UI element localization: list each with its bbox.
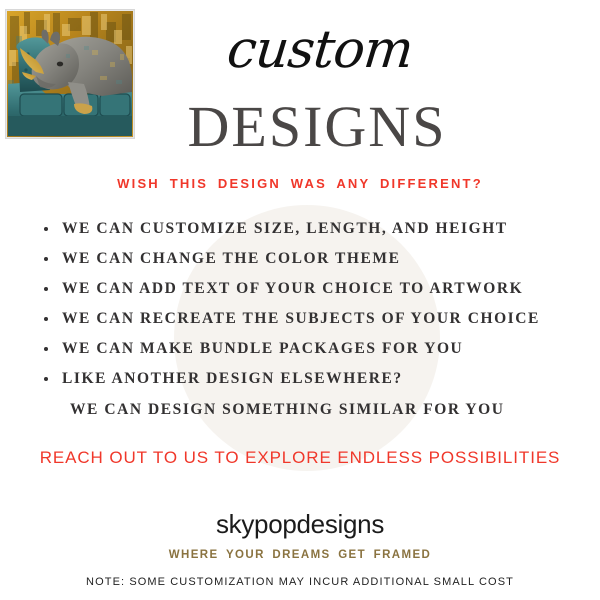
customization-feature-list: WE CAN CUSTOMIZE SIZE, LENGTH, AND HEIGH… [44, 214, 564, 426]
list-item: WE CAN ADD TEXT OF YOUR CHOICE TO ARTWOR… [44, 274, 564, 304]
brand-tagline: WHERE YOUR DREAMS GET FRAMED [0, 549, 600, 561]
rhino-canvas-art-icon [6, 10, 134, 138]
list-item-label: WE CAN MAKE BUNDLE PACKAGES FOR YOU [62, 340, 463, 357]
listing-info-graphic: custom DESIGNS WISH THIS DESIGN WAS ANY … [0, 0, 600, 600]
bullet-dot-icon [44, 377, 48, 381]
bullet-dot-icon [44, 227, 48, 231]
bullet-dot-icon [44, 347, 48, 351]
call-to-action-text: REACH OUT TO US TO EXPLORE ENDLESS POSSI… [0, 448, 600, 468]
list-item-label: WE CAN CUSTOMIZE SIZE, LENGTH, AND HEIGH… [62, 220, 508, 237]
product-artwork-thumbnail[interactable] [6, 10, 134, 138]
list-item-label: WE CAN RECREATE THE SUBJECTS OF YOUR CHO… [62, 310, 540, 327]
list-item: WE CAN CHANGE THE COLOR THEME [44, 244, 564, 274]
list-item: WE CAN CUSTOMIZE SIZE, LENGTH, AND HEIGH… [44, 214, 564, 244]
list-item: WE CAN MAKE BUNDLE PACKAGES FOR YOU [44, 334, 564, 364]
footnote-disclaimer: NOTE: SOME CUSTOMIZATION MAY INCUR ADDIT… [0, 576, 600, 588]
list-item-label: WE CAN ADD TEXT OF YOUR CHOICE TO ARTWOR… [62, 280, 523, 297]
list-item-label: LIKE ANOTHER DESIGN ELSEWHERE? [62, 370, 403, 387]
subheadline-question: WISH THIS DESIGN WAS ANY DIFFERENT? [0, 176, 600, 191]
list-item: LIKE ANOTHER DESIGN ELSEWHERE? [44, 364, 564, 394]
bullet-dot-icon [44, 257, 48, 261]
brand-name: skypopdesigns [0, 509, 600, 540]
list-item-label: WE CAN CHANGE THE COLOR THEME [62, 250, 401, 267]
bullet-dot-icon [44, 287, 48, 291]
list-item-continuation: WE CAN DESIGN SOMETHING SIMILAR FOR YOU [44, 394, 564, 426]
bullet-dot-icon [44, 317, 48, 321]
list-item: WE CAN RECREATE THE SUBJECTS OF YOUR CHO… [44, 304, 564, 334]
list-item-label: WE CAN DESIGN SOMETHING SIMILAR FOR YOU [70, 401, 505, 418]
